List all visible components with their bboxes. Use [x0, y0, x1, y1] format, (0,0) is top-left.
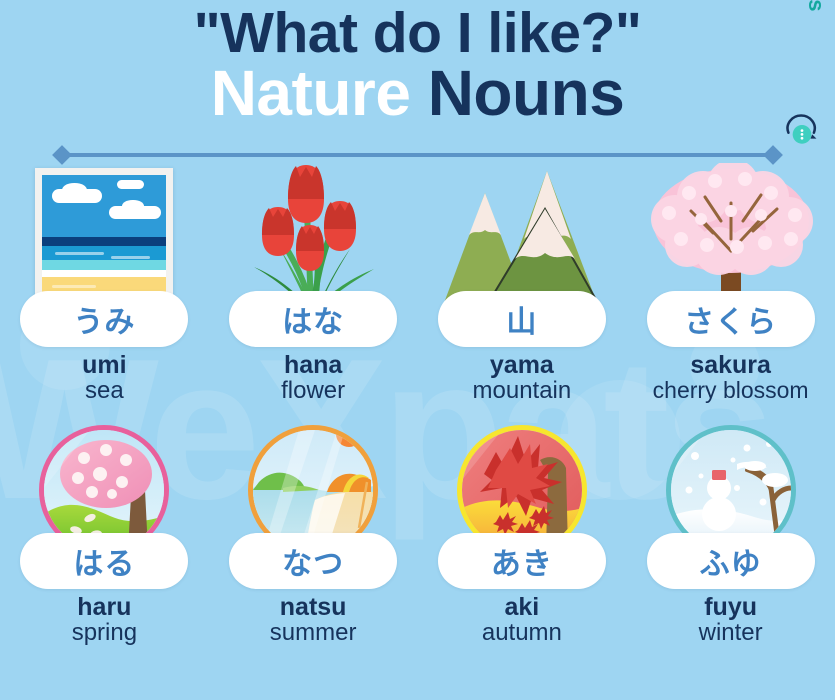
vocab-card-natsu[interactable]: なつ natsu summer [209, 403, 418, 645]
divider [55, 148, 780, 162]
vocab-card-aki[interactable]: あき aki autumn [418, 403, 627, 645]
japanese-pill-hana[interactable]: はな [229, 291, 397, 347]
english-yama: mountain [473, 379, 572, 403]
brand-pats: pats [804, 0, 829, 12]
romaji-aki: aki [504, 595, 539, 620]
english-hana: flower [281, 379, 345, 403]
vocab-card-haru[interactable]: はる haru spring [0, 403, 209, 645]
vocab-card-umi[interactable]: うみ umi sea [0, 163, 209, 403]
divider-bar [63, 153, 772, 157]
japanese-word-hana: はな [282, 297, 344, 341]
romaji-sakura: sakura [690, 353, 771, 378]
english-natsu: summer [270, 621, 357, 645]
brand-logo-text: WeXpats [803, 0, 829, 12]
vocab-card-fuyu[interactable]: ふゆ fuyu winter [626, 403, 835, 645]
japanese-word-umi: うみ [73, 297, 135, 341]
vocabulary-grid: うみ umi sea [0, 163, 835, 646]
english-sakura: cherry blossom [653, 379, 809, 402]
romaji-fuyu: fuyu [704, 595, 757, 620]
english-fuyu: winter [699, 621, 763, 645]
japanese-pill-haru[interactable]: はる [20, 533, 188, 589]
title-line-2: Nature Nouns [0, 60, 835, 127]
romaji-yama: yama [490, 353, 554, 378]
japanese-word-haru: はる [73, 539, 135, 583]
japanese-word-fuyu: ふゆ [700, 539, 762, 583]
title-nouns: Nouns [410, 57, 624, 129]
japanese-word-sakura: さくら [684, 297, 777, 341]
vocab-card-yama[interactable]: 山 yama mountain [418, 163, 627, 403]
japanese-word-natsu: なつ [282, 539, 344, 583]
romaji-hana: hana [284, 353, 342, 378]
japanese-pill-fuyu[interactable]: ふゆ [647, 533, 815, 589]
english-umi: sea [85, 379, 124, 403]
english-aki: autumn [482, 621, 562, 645]
japanese-pill-sakura[interactable]: さくら [647, 291, 815, 347]
brand-logo: WeXpats [779, 6, 833, 156]
page-title: "What do I like?" Nature Nouns [0, 4, 835, 127]
japanese-word-yama: 山 [506, 297, 537, 341]
japanese-pill-yama[interactable]: 山 [438, 291, 606, 347]
romaji-umi: umi [82, 353, 126, 378]
vocab-card-sakura[interactable]: さくら sakura cherry blossom [626, 163, 835, 403]
japanese-pill-umi[interactable]: うみ [20, 291, 188, 347]
japanese-pill-natsu[interactable]: なつ [229, 533, 397, 589]
romaji-natsu: natsu [280, 595, 347, 620]
romaji-haru: haru [77, 595, 131, 620]
japanese-word-aki: あき [491, 539, 553, 583]
japanese-pill-aki[interactable]: あき [438, 533, 606, 589]
english-haru: spring [72, 621, 137, 645]
brand-speech-bubble-icon [785, 114, 819, 148]
title-line-1: "What do I like?" [0, 4, 835, 62]
title-nature: Nature [211, 57, 411, 129]
vocab-card-hana[interactable]: はな hana flower [209, 163, 418, 403]
